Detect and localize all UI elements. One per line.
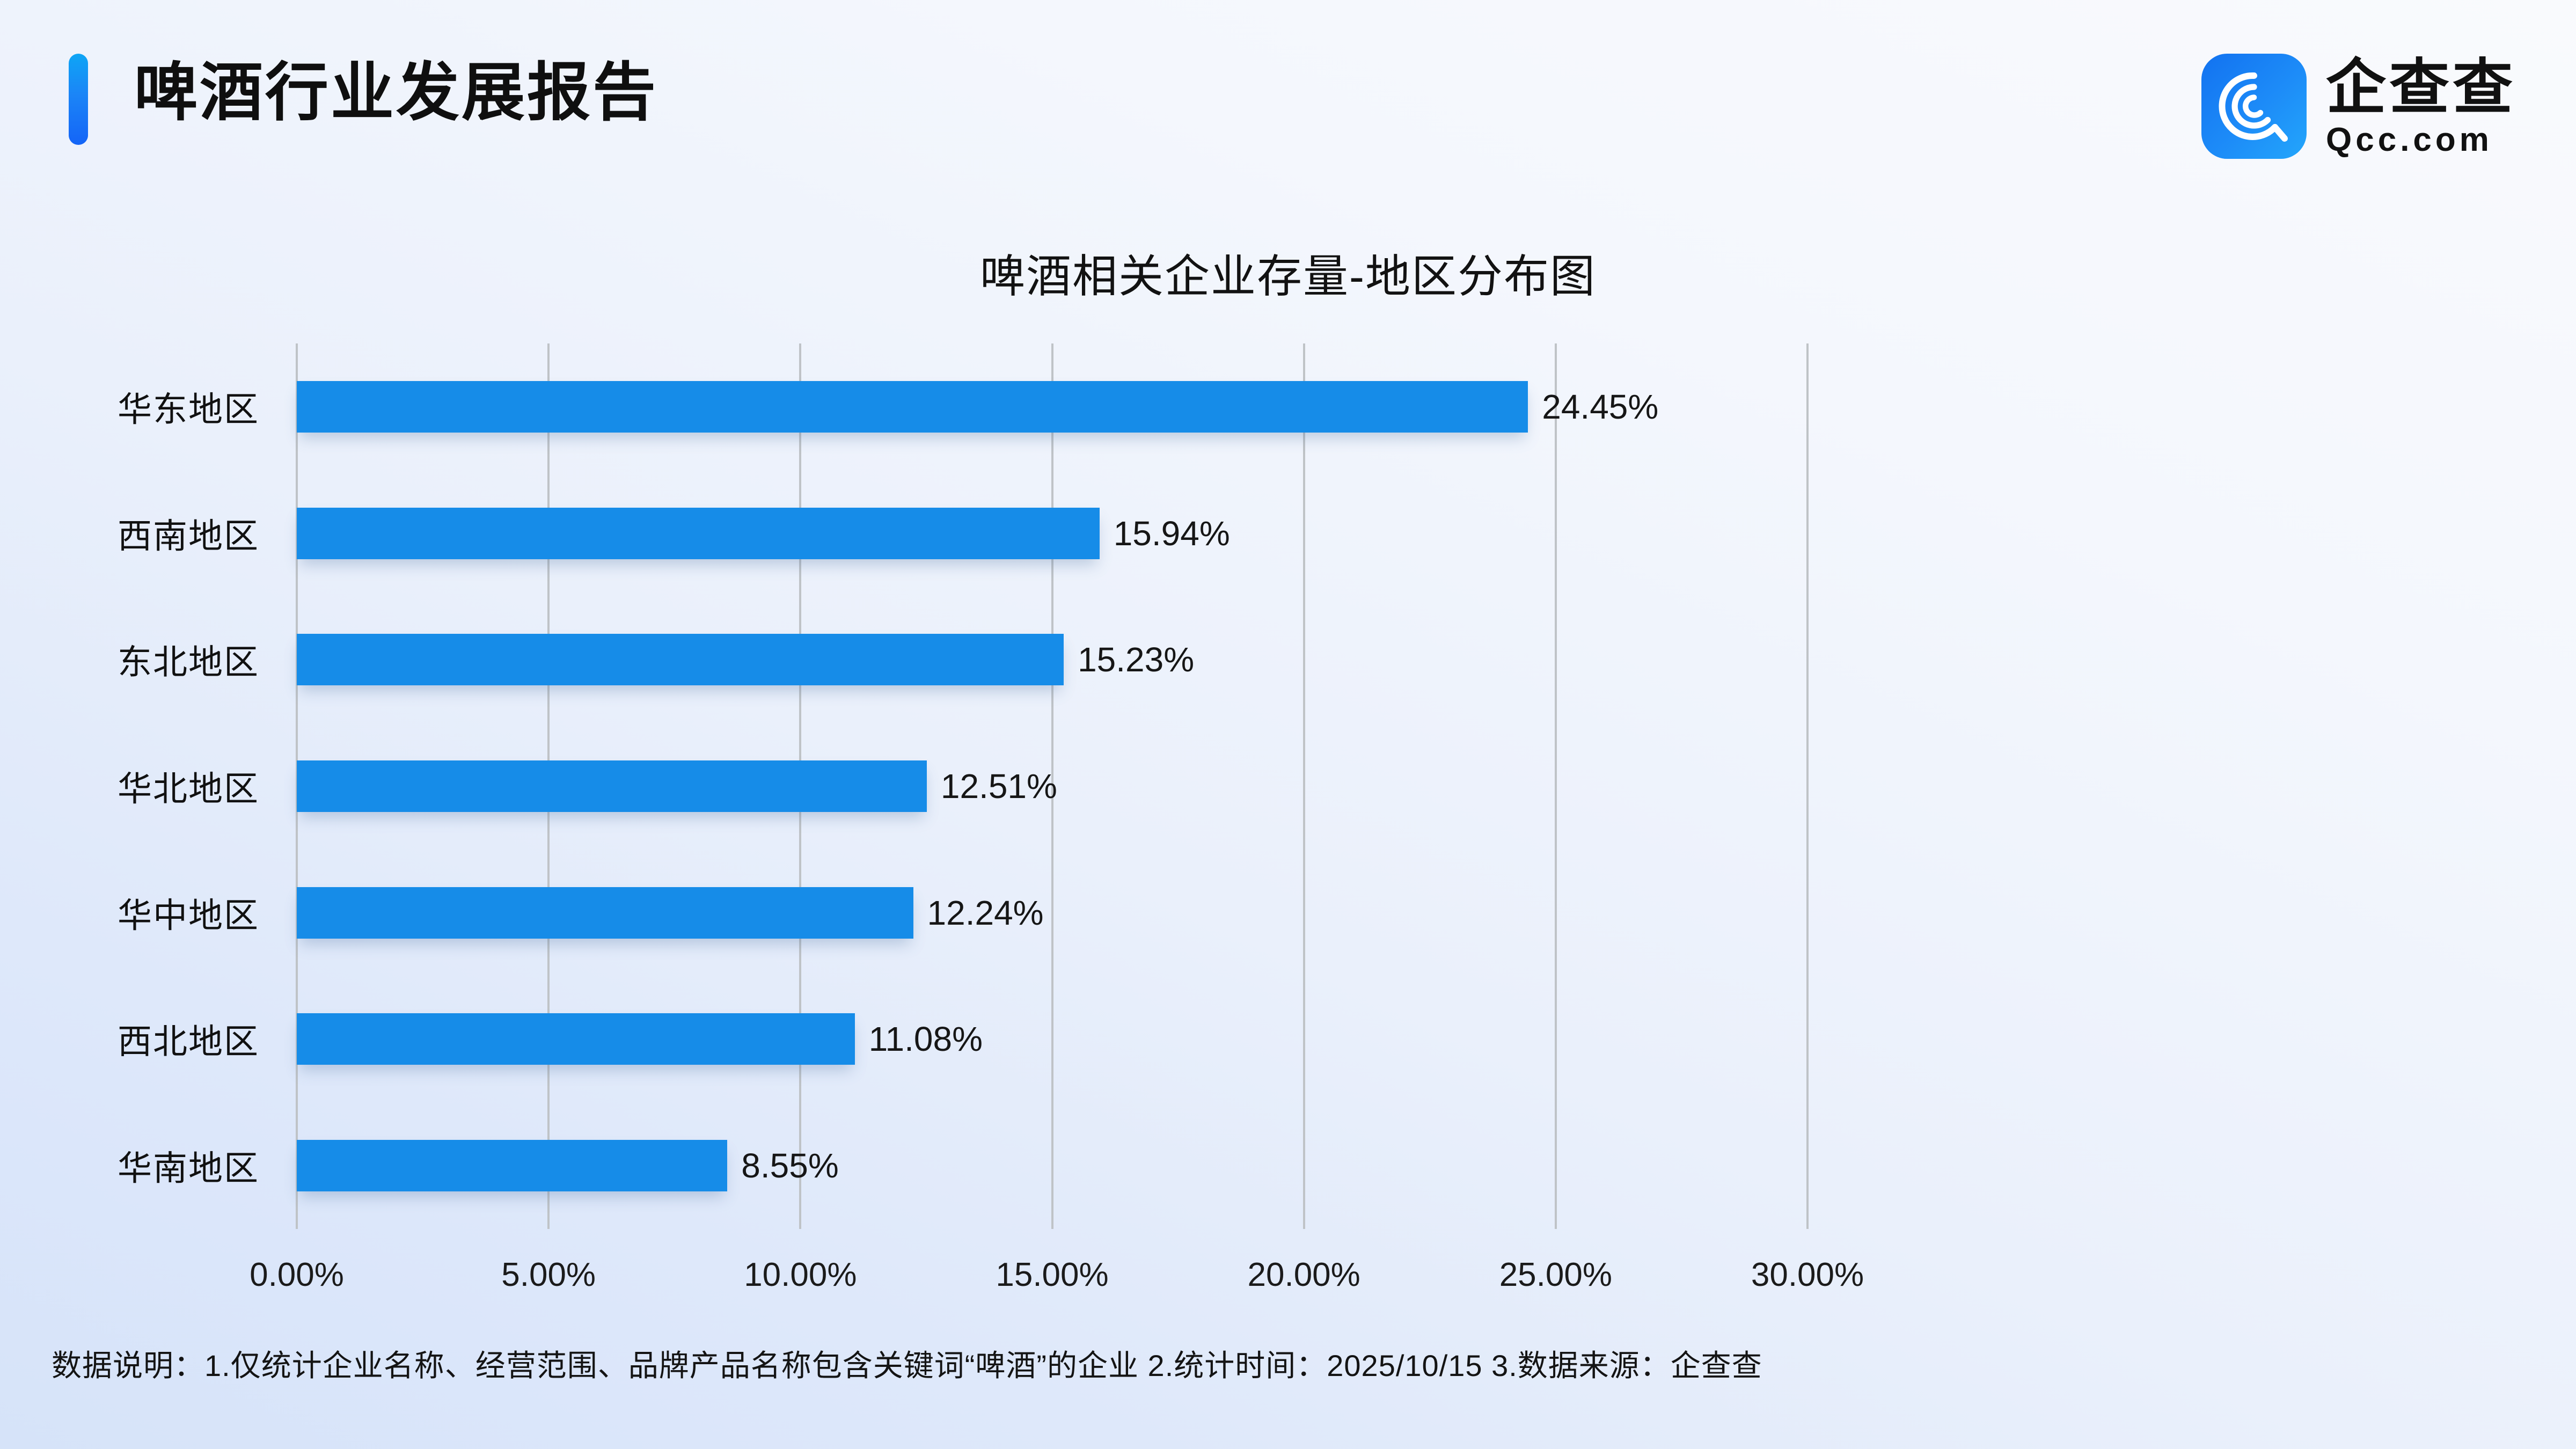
x-axis-tick-label: 5.00% bbox=[501, 1256, 596, 1294]
page-header: 啤酒行业发展报告 企查查 Qcc.com bbox=[0, 0, 2576, 199]
chart-bar-value-label: 15.23% bbox=[1078, 640, 1194, 679]
chart-bar[interactable] bbox=[297, 887, 913, 939]
qcc-logo-icon bbox=[2201, 54, 2307, 159]
y-axis-category-label: 华中地区 bbox=[118, 888, 259, 938]
chart-bar-row: 华东地区24.45% bbox=[297, 343, 1807, 470]
page-title: 啤酒行业发展报告 bbox=[134, 46, 658, 141]
chart-bar-value-label: 24.45% bbox=[1542, 387, 1658, 427]
chart-bar-row: 华北地区12.51% bbox=[297, 723, 1807, 850]
x-axis-tick-label: 20.00% bbox=[1248, 1256, 1360, 1294]
y-axis-category-label: 西南地区 bbox=[118, 509, 259, 558]
chart-bar-value-label: 8.55% bbox=[741, 1146, 838, 1185]
x-axis-tick-label: 25.00% bbox=[1499, 1256, 1612, 1294]
chart-region: 啤酒相关企业存量-地区分布图 0.00%5.00%10.00%15.00%20.… bbox=[0, 199, 2576, 1299]
x-axis-tick-label: 15.00% bbox=[996, 1256, 1108, 1294]
y-axis-category-label: 华南地区 bbox=[118, 1141, 259, 1190]
brand-name-en: Qcc.com bbox=[2326, 122, 2516, 157]
chart-bar[interactable] bbox=[297, 760, 927, 812]
chart-bar-row: 西南地区15.94% bbox=[297, 470, 1807, 597]
chart-bar[interactable] bbox=[297, 1140, 727, 1191]
y-axis-category-label: 东北地区 bbox=[118, 635, 259, 684]
chart-bar-value-label: 15.94% bbox=[1114, 514, 1230, 553]
chart-bar-value-label: 11.08% bbox=[869, 1019, 983, 1059]
chart-bar-row: 西北地区11.08% bbox=[297, 976, 1807, 1103]
brand-text: 企查查 Qcc.com bbox=[2326, 55, 2516, 157]
chart-bar-value-label: 12.51% bbox=[941, 766, 1057, 806]
title-accent-bar bbox=[69, 54, 88, 145]
chart-bar[interactable] bbox=[297, 508, 1100, 559]
x-axis-tick-label: 10.00% bbox=[744, 1256, 857, 1294]
chart-bar[interactable] bbox=[297, 381, 1528, 433]
chart-bar-row: 华中地区12.24% bbox=[297, 850, 1807, 976]
brand-logo[interactable]: 企查查 Qcc.com bbox=[2201, 47, 2516, 165]
x-axis-tick-label: 0.00% bbox=[250, 1256, 344, 1294]
y-axis-category-label: 华北地区 bbox=[118, 762, 259, 811]
x-axis-tick-label: 30.00% bbox=[1751, 1256, 1864, 1294]
y-axis-category-label: 华东地区 bbox=[118, 382, 259, 431]
chart-bar-row: 东北地区15.23% bbox=[297, 596, 1807, 723]
chart-title: 啤酒相关企业存量-地区分布图 bbox=[0, 240, 2576, 305]
chart-bar[interactable] bbox=[297, 1013, 855, 1065]
data-source-note: 数据说明：1.仅统计企业名称、经营范围、品牌产品名称包含关键词“啤酒”的企业 2… bbox=[52, 1342, 1762, 1385]
chart-bar-value-label: 12.24% bbox=[927, 893, 1044, 933]
brand-name-cn: 企查查 bbox=[2326, 55, 2516, 120]
y-axis-category-label: 西北地区 bbox=[118, 1014, 259, 1064]
chart-bar[interactable] bbox=[297, 634, 1064, 685]
chart-bar-row: 华南地区8.55% bbox=[297, 1102, 1807, 1229]
chart-plot-area: 0.00%5.00%10.00%15.00%20.00%25.00%30.00%… bbox=[297, 343, 1807, 1229]
